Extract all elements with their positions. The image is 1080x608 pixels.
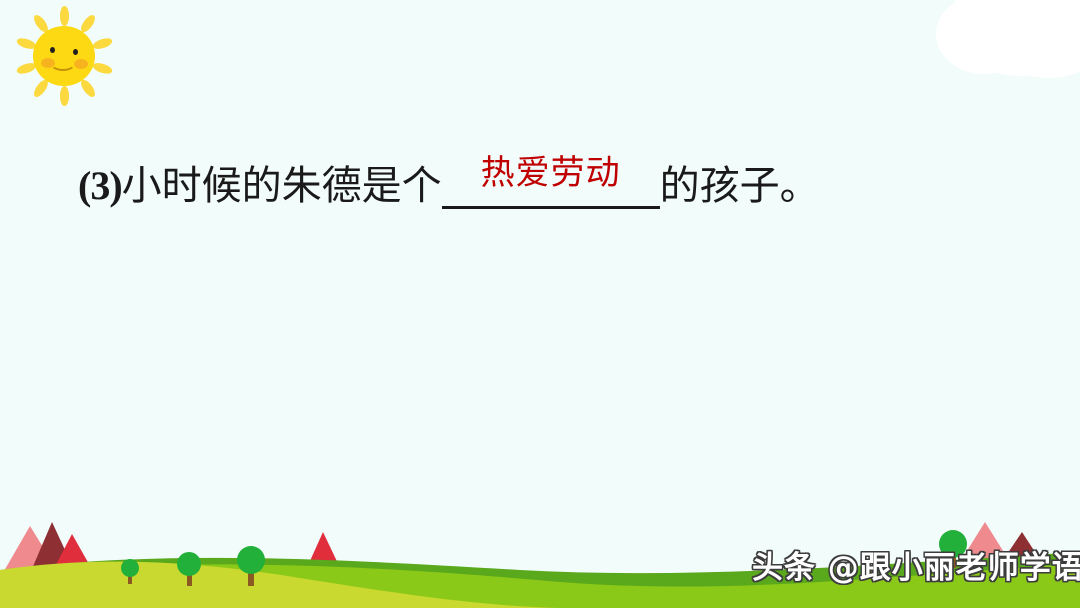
sun-eye-left bbox=[50, 47, 55, 53]
answer-text: 热爱劳动 bbox=[442, 150, 660, 196]
answer-blank[interactable]: 热爱劳动 bbox=[442, 160, 660, 212]
question-sentence: (3)小时候的朱德是个 热爱劳动 的孩子。 bbox=[78, 160, 820, 212]
sun-ray bbox=[92, 61, 114, 76]
channel-watermark: 头条 @跟小丽老师学语文 bbox=[752, 548, 1080, 588]
sun-ray bbox=[60, 6, 69, 26]
sun-cheek-right bbox=[74, 59, 88, 69]
sun-smile bbox=[50, 55, 76, 71]
sun-eye-right bbox=[73, 49, 78, 55]
smiling-sun-icon bbox=[2, 2, 122, 112]
sun-ray bbox=[60, 86, 69, 106]
question-number: (3) bbox=[78, 163, 122, 208]
sun-ray bbox=[92, 36, 114, 51]
slide-canvas: (3)小时候的朱德是个 热爱劳动 的孩子。 bbox=[0, 0, 1080, 608]
question-text-before: 小时候的朱德是个 bbox=[122, 163, 442, 209]
blank-underline bbox=[442, 206, 660, 209]
question-text-after: 的孩子。 bbox=[660, 163, 820, 209]
